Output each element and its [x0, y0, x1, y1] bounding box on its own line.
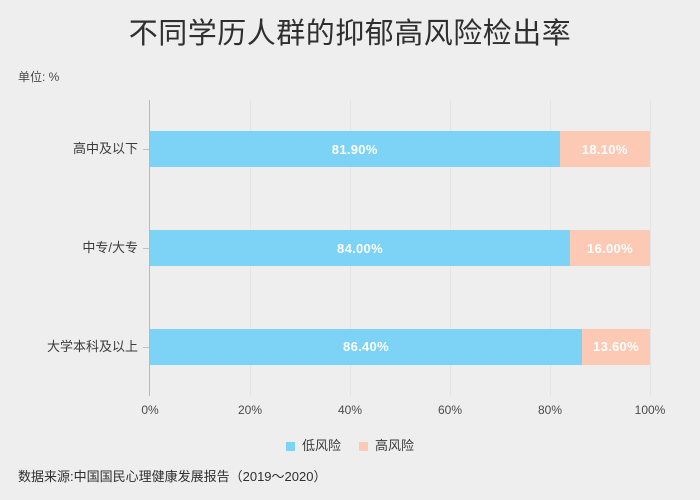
category-label: 中专/大专 [10, 239, 150, 257]
legend-swatch-icon [286, 442, 295, 451]
plot-area: 81.90%18.10%84.00%16.00%86.40%13.60% [150, 100, 650, 396]
chart-unit-label: 单位: % [18, 69, 59, 85]
x-tick-label: 40% [338, 402, 362, 418]
legend-item-low-risk[interactable]: 低风险 [286, 438, 341, 454]
gridline [650, 100, 651, 396]
x-tick-label: 80% [538, 402, 562, 418]
x-tick-label: 60% [438, 402, 462, 418]
legend-item-high-risk[interactable]: 高风险 [359, 438, 414, 454]
x-tick-label: 0% [141, 402, 158, 418]
bar-value-label: 86.40% [343, 339, 389, 354]
bar-group: 86.40%13.60% [150, 329, 650, 365]
bar-value-label: 81.90% [332, 142, 378, 157]
bar-segment-low-risk[interactable]: 81.90% [150, 131, 560, 167]
bar-value-label: 13.60% [593, 339, 639, 354]
bar-value-label: 84.00% [337, 241, 383, 256]
source-note: 数据来源:中国国民心理健康发展报告（2019～2020） [18, 468, 326, 486]
category-label: 大学本科及以上 [10, 338, 150, 356]
bar-value-label: 16.00% [587, 241, 633, 256]
page-title: 不同学历人群的抑郁高风险检出率 [0, 14, 700, 54]
bar-group: 84.00%16.00% [150, 230, 650, 266]
category-axis-labels: 高中及以下中专/大专大学本科及以上 [0, 100, 150, 396]
bar-segment-low-risk[interactable]: 84.00% [150, 230, 570, 266]
bar-segment-high-risk[interactable]: 13.60% [582, 329, 650, 365]
legend-swatch-icon [359, 442, 368, 451]
bar-value-label: 18.10% [582, 142, 628, 157]
legend-label: 高风险 [375, 438, 414, 454]
bar-group: 81.90%18.10% [150, 131, 650, 167]
x-tick-label: 20% [238, 402, 262, 418]
bar-segment-high-risk[interactable]: 16.00% [570, 230, 650, 266]
category-label: 高中及以下 [10, 140, 150, 158]
legend: 低风险高风险 [0, 438, 700, 454]
legend-label: 低风险 [302, 438, 341, 454]
bar-segment-high-risk[interactable]: 18.10% [560, 131, 651, 167]
x-tick-label: 100% [635, 402, 666, 418]
chart-container: 不同学历人群的抑郁高风险检出率 单位: % 高中及以下中专/大专大学本科及以上 … [0, 0, 700, 500]
bar-segment-low-risk[interactable]: 86.40% [150, 329, 582, 365]
